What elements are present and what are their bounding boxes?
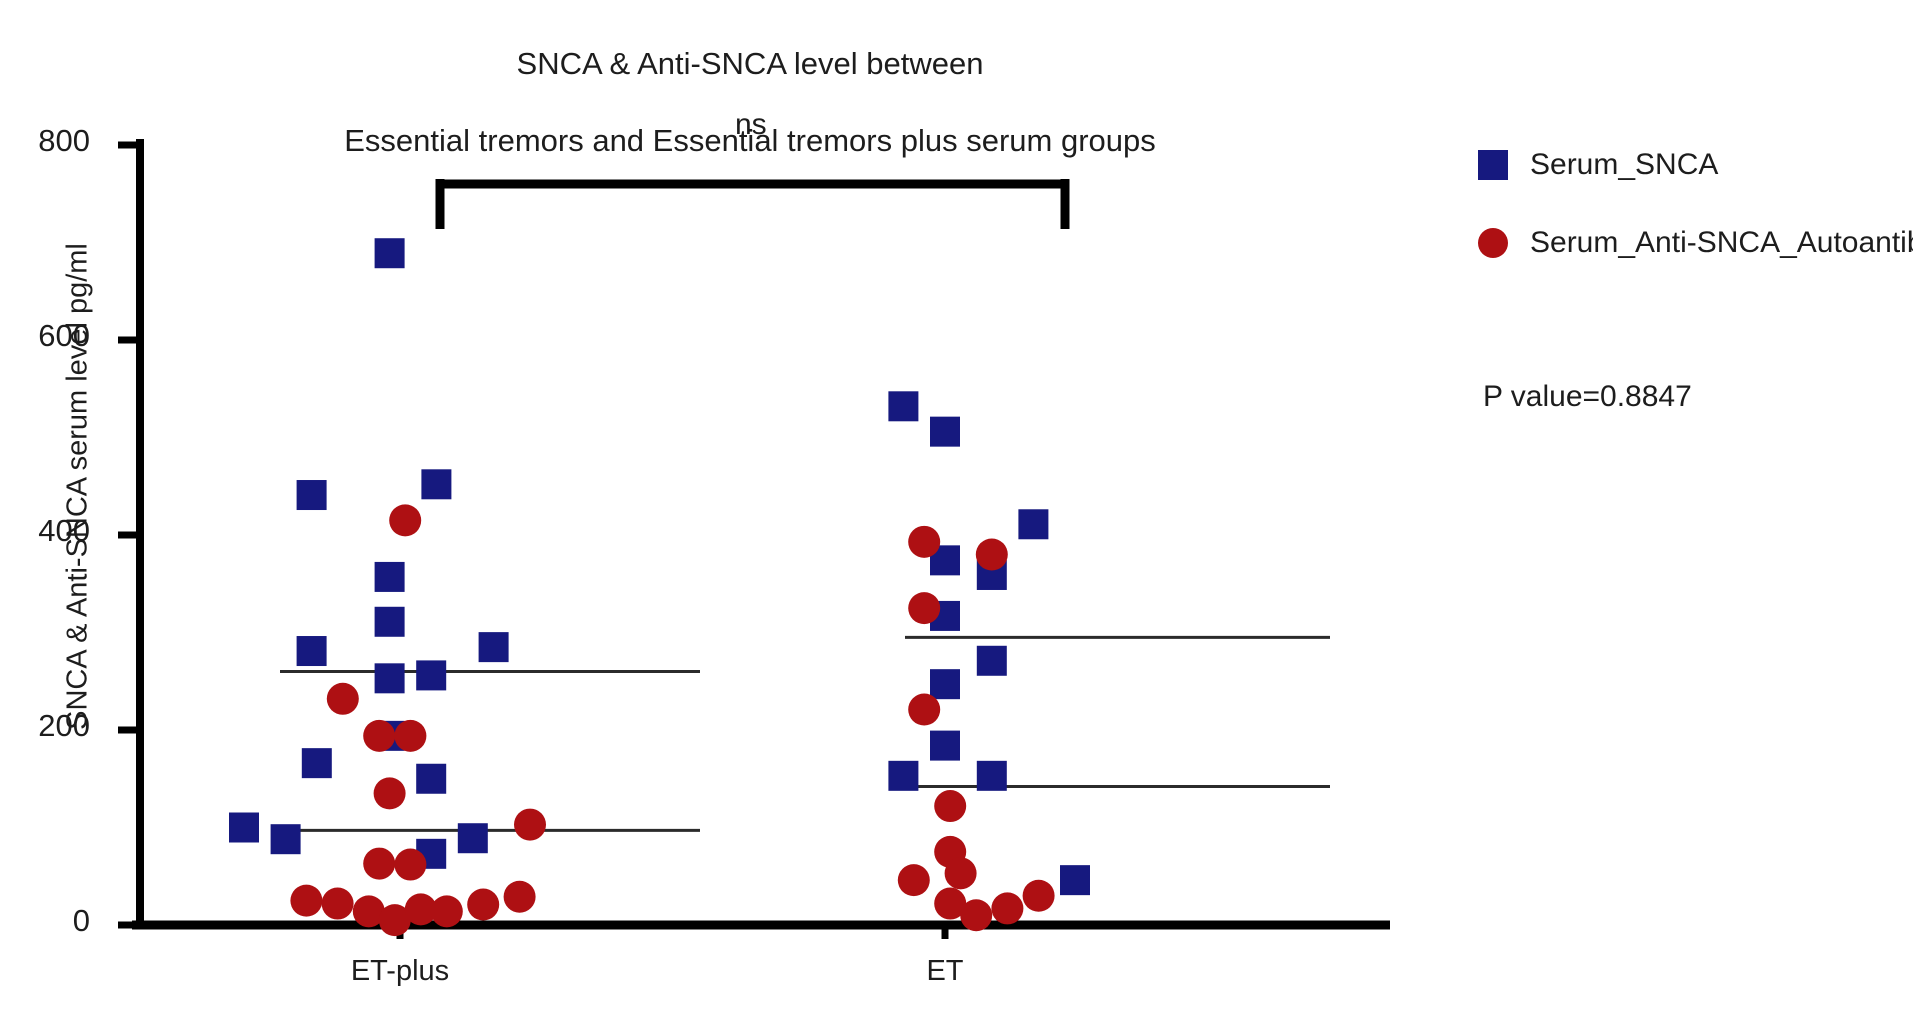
- y-tick-label: 0: [0, 903, 90, 939]
- data-point-marker: [1060, 865, 1090, 895]
- data-point-marker: [1023, 880, 1055, 912]
- data-point-marker: [908, 526, 940, 558]
- data-point-marker: [416, 764, 446, 794]
- data-point-marker: [467, 889, 499, 921]
- data-point-marker: [297, 480, 327, 510]
- figure-container: SNCA & Anti-SNCA level between Essential…: [0, 0, 1913, 1013]
- data-point-marker: [229, 813, 259, 843]
- data-point-marker: [934, 790, 966, 822]
- data-point-marker: [479, 632, 509, 662]
- data-point-marker: [394, 720, 426, 752]
- data-point-marker: [908, 694, 940, 726]
- x-tick-label-et: ET: [815, 955, 1075, 988]
- data-point-marker: [374, 777, 406, 809]
- y-tick-label: 600: [0, 318, 90, 354]
- x-tick-label-et-plus: ET-plus: [270, 955, 530, 988]
- data-point-marker: [930, 669, 960, 699]
- significance-bracket: [440, 179, 1065, 229]
- data-point-marker: [991, 892, 1023, 924]
- legend-square-marker-icon: [1478, 150, 1508, 180]
- significance-label: ns: [735, 108, 767, 142]
- data-point-marker: [302, 748, 332, 778]
- data-point-marker: [977, 646, 1007, 676]
- y-tick-label: 200: [0, 708, 90, 744]
- data-point-marker: [504, 881, 536, 913]
- data-point-marker: [363, 848, 395, 880]
- chart-legend: Serum_SNCA Serum_Anti-SNCA_Autoantibodie…: [1478, 148, 1913, 304]
- data-point-marker: [421, 469, 451, 499]
- y-tick-label: 400: [0, 513, 90, 549]
- legend-label-serum-snca: Serum_SNCA: [1530, 148, 1718, 182]
- data-point-marker: [960, 899, 992, 931]
- data-point-marker: [297, 636, 327, 666]
- data-point-marker: [363, 720, 395, 752]
- legend-item-serum-anti-snca-autoantibodies[interactable]: Serum_Anti-SNCA_Autoantibodies: [1478, 226, 1913, 260]
- data-point-marker: [977, 761, 1007, 791]
- data-point-marker: [1018, 509, 1048, 539]
- data-point-marker: [930, 731, 960, 761]
- p-value-text: P value=0.8847: [1483, 380, 1692, 414]
- axes-group: [118, 139, 1390, 939]
- legend-item-serum-snca[interactable]: Serum_SNCA: [1478, 148, 1913, 182]
- data-point-marker: [514, 809, 546, 841]
- data-point-marker: [394, 849, 426, 881]
- data-point-marker: [930, 417, 960, 447]
- data-point-marker: [908, 592, 940, 624]
- data-point-marker: [416, 660, 446, 690]
- data-point-marker: [976, 539, 1008, 571]
- data-point-marker: [271, 824, 301, 854]
- data-point-marker: [290, 885, 322, 917]
- data-point-marker: [327, 683, 359, 715]
- data-point-marker: [888, 391, 918, 421]
- data-point-marker: [375, 663, 405, 693]
- data-point-marker: [375, 238, 405, 268]
- y-tick-label: 800: [0, 123, 90, 159]
- data-point-marker: [888, 761, 918, 791]
- data-point-marker: [945, 857, 977, 889]
- data-point-marker: [458, 823, 488, 853]
- data-point-marker: [322, 888, 354, 920]
- legend-circle-marker-icon: [1478, 228, 1508, 258]
- data-point-marker: [431, 895, 463, 927]
- data-point-marker: [375, 607, 405, 637]
- data-point-marker: [898, 864, 930, 896]
- legend-label-serum-anti-snca: Serum_Anti-SNCA_Autoantibodies: [1530, 226, 1913, 260]
- data-point-marker: [375, 562, 405, 592]
- data-point-marker: [389, 504, 421, 536]
